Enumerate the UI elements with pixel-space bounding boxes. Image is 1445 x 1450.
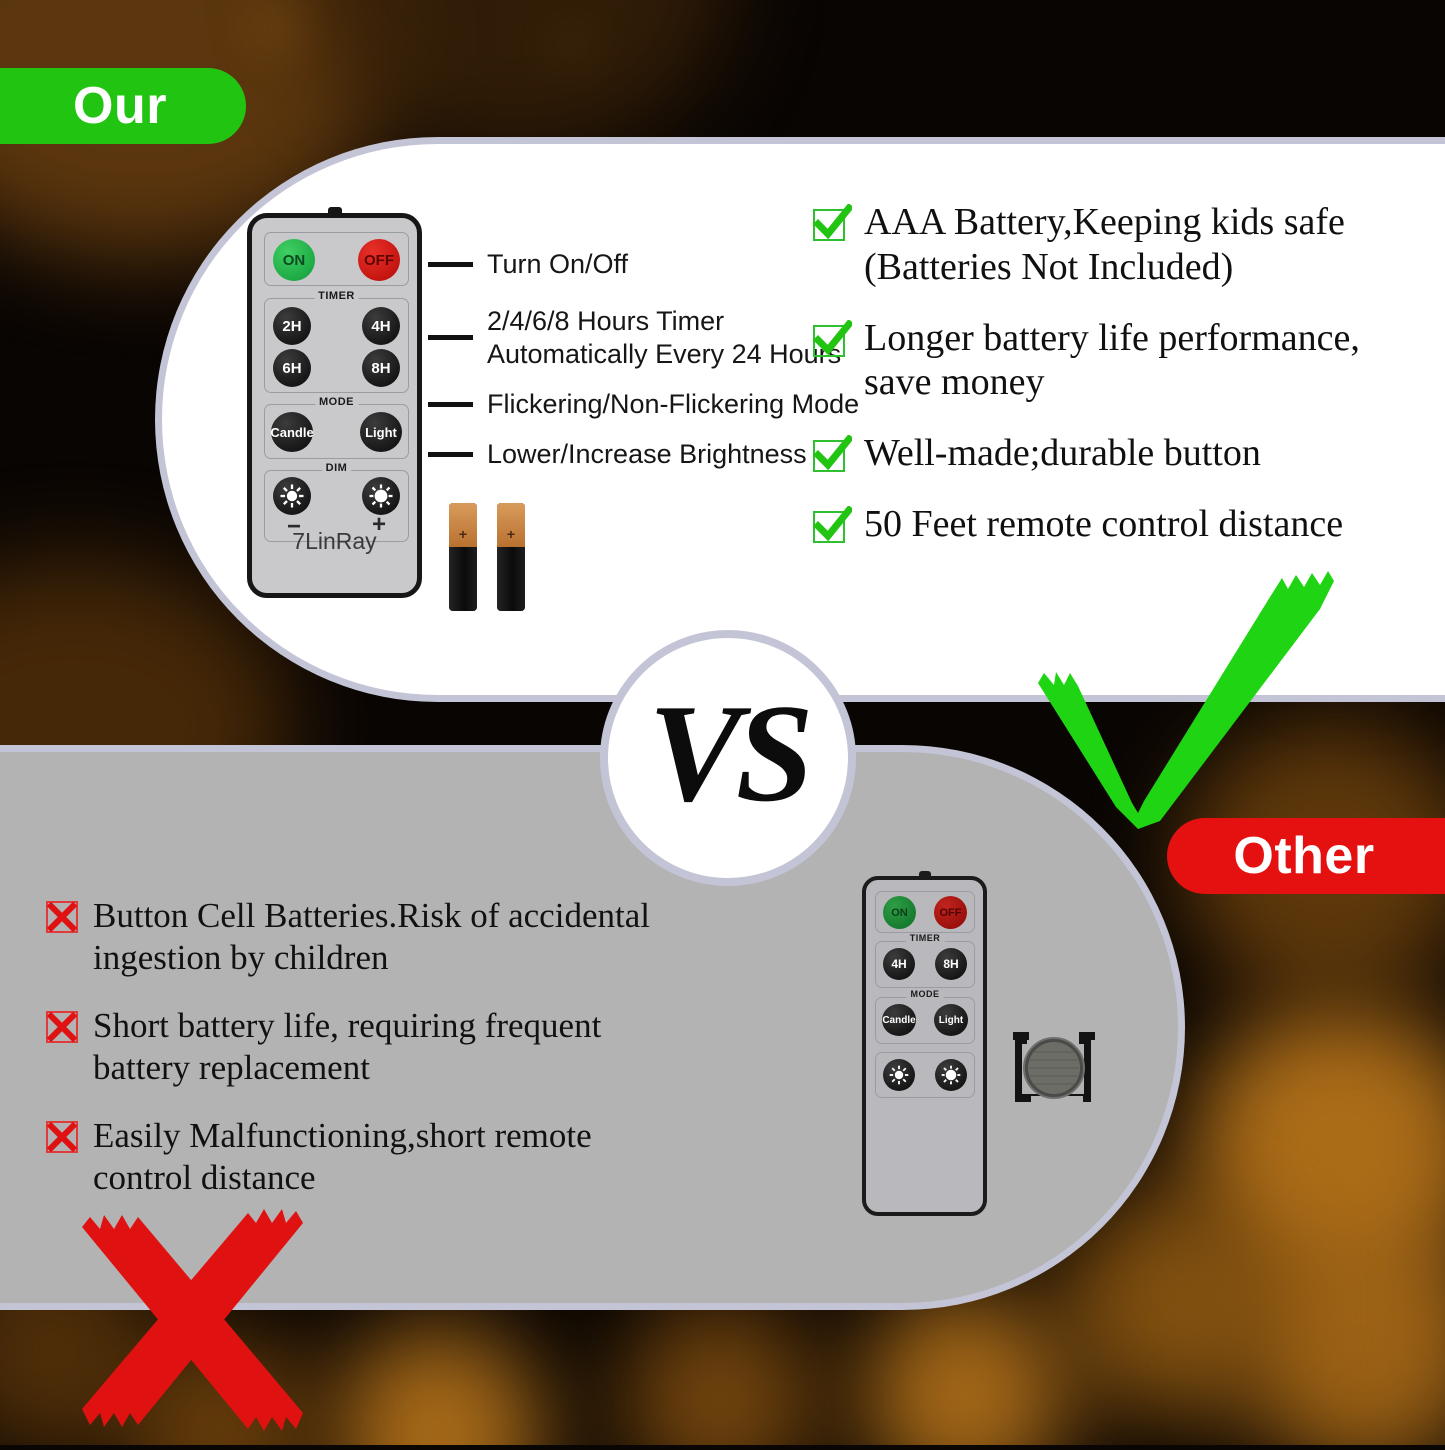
checkmark-icon [812,435,852,475]
cross-icon [45,1120,79,1154]
large-green-check-icon [1020,545,1350,830]
timer-group: TIMER 4H 8H [875,941,975,988]
our-remote-control: ON OFF TIMER 2H 4H 6H 8H MODE Candle Lig… [247,213,422,598]
remote-brand-label: 7LinRay [252,528,417,555]
timer-group-label: TIMER [314,290,359,302]
our-badge: Our [0,68,246,144]
sun-icon [279,483,305,509]
sun-icon [368,483,394,509]
drawback-item: Button Cell Batteries.Risk of accidental… [45,895,765,979]
timer-8h-button[interactable]: 8H [362,349,400,387]
callout-label: Flickering/Non-Flickering Mode [487,388,859,421]
callout-line [428,262,473,267]
timer-group-label: TIMER [906,933,945,943]
timer-6h-button[interactable]: 6H [273,349,311,387]
other-remote-control: ON OFF TIMER 4H 8H MODE Candle Light [862,876,987,1216]
feature-label: Well-made;durable button [864,431,1261,476]
aaa-battery: + [449,503,477,611]
mode-light-button[interactable]: Light [934,1004,968,1036]
drawback-label: Button Cell Batteries.Risk of accidental… [93,895,650,979]
checkmark-icon [812,204,852,244]
feature-item: Well-made;durable button [812,431,1432,476]
off-button[interactable]: OFF [358,239,400,281]
cross-icon [45,900,79,934]
ir-emitter [919,871,931,878]
feature-item: Longer battery life performance, save mo… [812,316,1432,406]
on-button[interactable]: ON [883,896,916,929]
callout-timer: 2/4/6/8 Hours Timer Automatically Every … [428,305,841,371]
on-button[interactable]: ON [273,239,315,281]
drawback-item: Short battery life, requiring frequent b… [45,1005,765,1089]
feature-list: AAA Battery,Keeping kids safe (Batteries… [812,200,1432,573]
timer-group: TIMER 2H 4H 6H 8H [264,298,409,393]
power-group: ON OFF [875,891,975,933]
dim-up-button[interactable] [935,1059,967,1091]
battery-plus-icon: + [449,527,477,541]
callout-mode: Flickering/Non-Flickering Mode [428,388,859,421]
timer-2h-button[interactable]: 2H [273,307,311,345]
feature-item: AAA Battery,Keeping kids safe (Batteries… [812,200,1432,290]
drawback-list: Button Cell Batteries.Risk of accidental… [45,895,765,1225]
feature-item: 50 Feet remote control distance [812,502,1432,547]
off-button[interactable]: OFF [934,896,967,929]
checkmark-icon [812,506,852,546]
checkmark-icon [812,320,852,360]
callout-power: Turn On/Off [428,248,628,281]
callout-label: Lower/Increase Brightness [487,438,807,471]
coin-cell-battery-holder [1007,1022,1102,1116]
callout-label: 2/4/6/8 Hours Timer Automatically Every … [487,305,841,371]
ir-emitter [328,207,342,215]
vs-label: VS [648,684,807,824]
callout-dim: Lower/Increase Brightness [428,438,807,471]
dim-group-label: DIM [322,462,352,474]
battery-body [497,547,525,611]
battery-plus-icon: + [497,527,525,541]
mode-group-label: MODE [907,989,944,999]
mode-group-label: MODE [315,396,358,408]
drawback-label: Short battery life, requiring frequent b… [93,1005,601,1089]
callout-line [428,402,473,407]
mode-candle-button[interactable]: Candle [882,1004,916,1036]
dim-down-button[interactable] [273,477,311,515]
mode-candle-button[interactable]: Candle [271,412,313,452]
feature-label: 50 Feet remote control distance [864,502,1343,547]
callout-label: Turn On/Off [487,248,628,281]
large-red-cross-icon [60,1185,325,1450]
timer-8h-button[interactable]: 8H [935,948,967,980]
callout-line [428,452,473,457]
mode-group: MODE Candle Light [264,404,409,459]
callout-line [428,335,473,340]
dim-up-button[interactable] [362,477,400,515]
mode-light-button[interactable]: Light [360,412,402,452]
timer-4h-button[interactable]: 4H [883,948,915,980]
sun-icon [888,1064,910,1086]
timer-4h-button[interactable]: 4H [362,307,400,345]
dim-down-button[interactable] [883,1059,915,1091]
feature-label: Longer battery life performance, save mo… [864,316,1360,406]
battery-body [449,547,477,611]
cross-icon [45,1010,79,1044]
sun-icon [940,1064,962,1086]
dim-group [875,1052,975,1098]
power-group: ON OFF [264,232,409,286]
mode-group: MODE Candle Light [875,997,975,1044]
feature-label: AAA Battery,Keeping kids safe (Batteries… [864,200,1345,290]
vs-badge: VS [600,630,856,886]
aaa-battery: + [497,503,525,611]
